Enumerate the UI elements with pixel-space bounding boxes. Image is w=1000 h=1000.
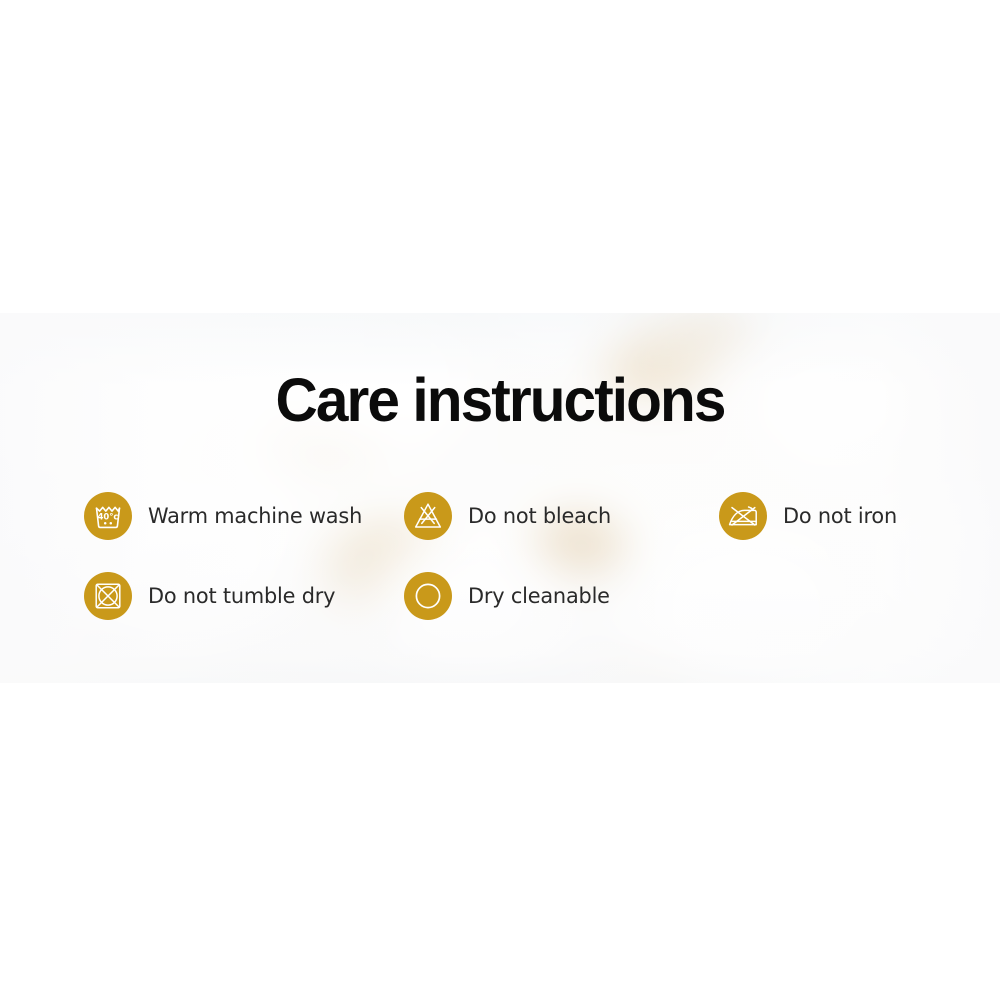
svg-text:40°c: 40°c [98, 511, 119, 521]
care-item-do-not-tumble-dry: Do not tumble dry [84, 572, 404, 620]
care-item-do-not-bleach: Do not bleach [404, 492, 719, 540]
warm-machine-wash-icon: 40°c [84, 492, 132, 540]
banner-content: Care instructions 40°c Warm machine w [0, 313, 1000, 683]
care-item-label: Warm machine wash [148, 504, 362, 529]
dry-cleanable-icon [404, 572, 452, 620]
care-row: Do not tumble dry Dry cleanable [84, 556, 964, 636]
care-item-warm-machine-wash: 40°c Warm machine wash [84, 492, 404, 540]
do-not-tumble-dry-icon [84, 572, 132, 620]
care-instructions-banner: Care instructions 40°c Warm machine w [0, 313, 1000, 683]
do-not-iron-icon [719, 492, 767, 540]
care-item-label: Do not tumble dry [148, 584, 335, 609]
care-item-do-not-iron: Do not iron [719, 492, 964, 540]
care-item-label: Do not iron [783, 504, 897, 529]
care-row: 40°c Warm machine wash [84, 476, 964, 556]
care-item-dry-cleanable: Dry cleanable [404, 572, 719, 620]
care-instructions-grid: 40°c Warm machine wash [84, 476, 964, 636]
do-not-bleach-icon [404, 492, 452, 540]
care-item-label: Dry cleanable [468, 584, 610, 609]
care-item-label: Do not bleach [468, 504, 611, 529]
page-title: Care instructions [20, 370, 980, 431]
